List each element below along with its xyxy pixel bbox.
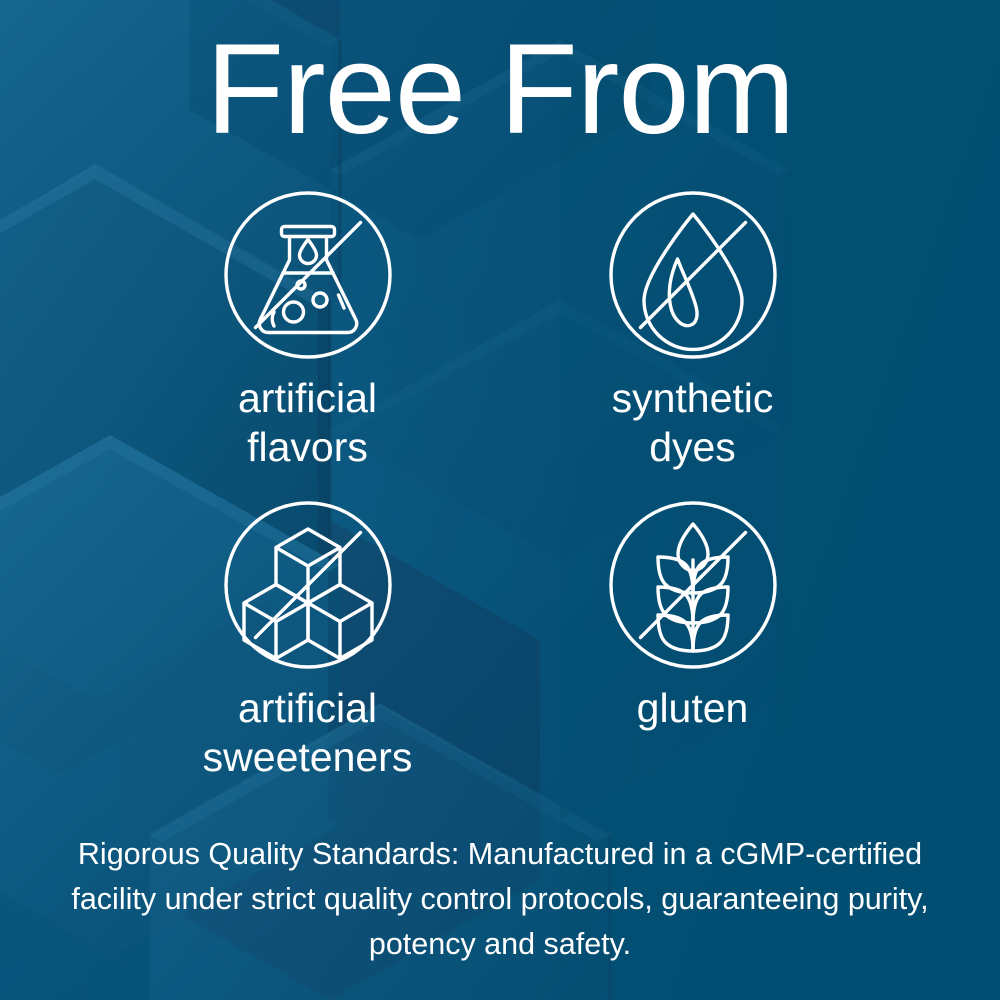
no-wheat-icon: [608, 500, 778, 670]
free-from-item-label: artificial flavors: [238, 374, 377, 472]
no-sugar-cubes-icon: [223, 500, 393, 670]
free-from-item-label: synthetic dyes: [612, 374, 774, 472]
free-from-item-label: artificial sweeteners: [203, 684, 413, 782]
free-from-grid: artificial flavors synthetic dyes: [115, 190, 885, 810]
no-flask-icon: [223, 190, 393, 360]
no-droplet-icon: [608, 190, 778, 360]
free-from-item-gluten: gluten: [500, 500, 885, 810]
free-from-item-artificial-flavors: artificial flavors: [115, 190, 500, 500]
free-from-infographic: Free From: [0, 0, 1000, 1000]
free-from-item-artificial-sweeteners: artificial sweeteners: [115, 500, 500, 810]
page-title: Free From: [0, 26, 1000, 154]
free-from-item-label: gluten: [637, 684, 749, 733]
quality-standards-note: Rigorous Quality Standards: Manufactured…: [50, 832, 950, 966]
free-from-item-synthetic-dyes: synthetic dyes: [500, 190, 885, 500]
